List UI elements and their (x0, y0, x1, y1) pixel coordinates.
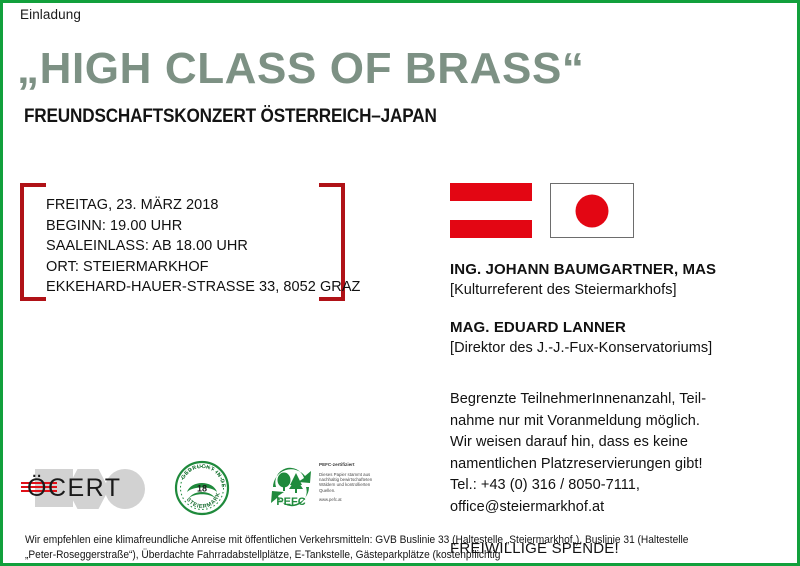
japan-flag-icon (550, 183, 634, 238)
notice-line: Begrenzte TeilnehmerInnenanzahl, Teil- (450, 389, 770, 411)
registration-notice: Begrenzte TeilnehmerInnenanzahl, Teil- n… (450, 389, 770, 518)
pefc-logo-icon: PEFC (267, 463, 315, 511)
invitation-flyer: Einladung „HIGH CLASS OF BRASS“ FREUNDSC… (0, 0, 800, 566)
pefc-title: PEFC-zertifiziert (319, 462, 377, 468)
oecert-logo-icon: ÖCERT (21, 465, 151, 513)
event-detail-date: FREITAG, 23. MÄRZ 2018 (46, 195, 360, 216)
pefc-side-text: PEFC-zertifiziert Dieses Papier stammt a… (319, 462, 377, 503)
japan-flag-sun (576, 194, 609, 227)
notice-phone: Tel.: +43 (0) 316 / 8050-7111, (450, 475, 770, 497)
event-details-lines: FREITAG, 23. MÄRZ 2018 BEGINN: 19.00 UHR… (46, 195, 360, 298)
steiermark-stamp-svg: 18 GEDRUCKT IN DER STEIERMARK (173, 459, 231, 517)
notice-email[interactable]: office@steiermarkhof.at (450, 497, 770, 519)
person-role: [Direktor des J.-J.-Fux-Konservatoriums] (450, 338, 770, 359)
event-detail-doors: SAALEINLASS: AB 18.00 UHR (46, 236, 360, 257)
flags-row (450, 183, 634, 238)
person-name: MAG. EDUARD LANNER (450, 317, 770, 338)
steiermark-stamp-icon: 18 GEDRUCKT IN DER STEIERMARK (173, 459, 231, 517)
austria-flag-band-top (450, 183, 532, 201)
pefc-logo-block: PEFC PEFC-zertifiziert Dieses Papier sta… (267, 461, 377, 515)
pefc-mark-text: PEFC (276, 496, 305, 508)
austria-flag-icon (450, 183, 532, 238)
footer-transport-note: Wir empfehlen eine klimafreundliche Anre… (25, 533, 755, 563)
certification-logos: ÖCERT 18 GEDRUCKT IN DER STEIERMARK (21, 459, 361, 517)
pefc-body: Dieses Papier stammt aus nachhaltig bewi… (319, 472, 377, 494)
page-subtitle: FREUNDSCHAFTSKONZERT ÖSTERREICH–JAPAN (24, 105, 437, 128)
steiermark-year-text: 18 (197, 484, 207, 494)
notice-line: nahme nur mit Voranmeldung möglich. (450, 411, 770, 433)
right-column: ING. JOHANN BAUMGARTNER, MAS [Kulturrefe… (450, 259, 770, 557)
event-detail-address: EKKEHARD-HAUER-STRASSE 33, 8052 GRAZ (46, 277, 360, 298)
notice-line: namentlichen Platzreservierungen gibt! (450, 454, 770, 476)
austria-flag-band-bottom (450, 220, 532, 238)
person-name: ING. JOHANN BAUMGARTNER, MAS (450, 259, 770, 280)
notice-line: Wir weisen darauf hin, dass es keine (450, 432, 770, 454)
footer-line-2: „Peter-Roseggerstraße“), Überdachte Fahr… (25, 548, 755, 563)
person-entry: ING. JOHANN BAUMGARTNER, MAS [Kulturrefe… (450, 259, 770, 301)
austria-flag-band-middle (450, 201, 532, 219)
pefc-url[interactable]: www.pefc.at (319, 497, 377, 502)
bracket-left-decoration (20, 183, 46, 301)
kicker-einladung: Einladung (20, 7, 81, 22)
event-detail-start: BEGINN: 19.00 UHR (46, 216, 360, 237)
oecert-logo-text: ÖCERT (27, 469, 151, 507)
page-title: „HIGH CLASS OF BRASS“ (17, 47, 585, 91)
person-role: [Kulturreferent des Steiermarkhofs] (450, 280, 770, 301)
person-entry: MAG. EDUARD LANNER [Direktor des J.-J.-F… (450, 317, 770, 359)
event-details-box: FREITAG, 23. MÄRZ 2018 BEGINN: 19.00 UHR… (20, 183, 345, 301)
footer-line-1: Wir empfehlen eine klimafreundliche Anre… (25, 533, 755, 548)
event-detail-venue: ORT: STEIERMARKHOF (46, 257, 360, 278)
